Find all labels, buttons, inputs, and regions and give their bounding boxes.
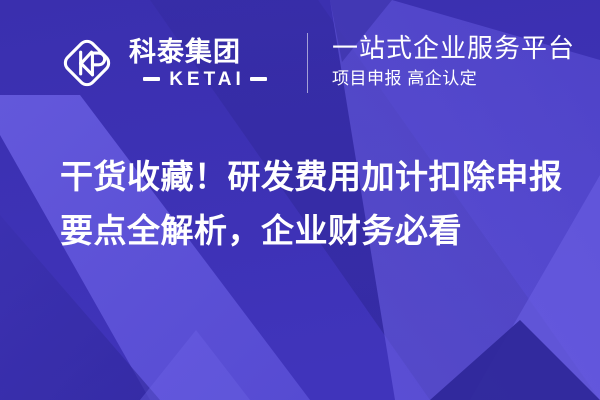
headline-line-2: 要点全解析，企业财务必看 xyxy=(60,204,560,258)
tagline-sub: 项目申报 高企认定 xyxy=(332,68,575,91)
logo-dash-left xyxy=(143,77,160,81)
brand-name-cn: 科泰集团 xyxy=(129,37,281,67)
ketai-diamond-kp-monogram-icon xyxy=(58,34,116,92)
promo-banner: 科泰集团 KETAI 一站式企业服务平台 项目申报 高企认定 干货收藏！研发费用… xyxy=(0,0,600,400)
brand-name-en: KETAI xyxy=(165,70,245,89)
brand-name-cn-text: 科泰集团 xyxy=(129,37,241,67)
banner-header: 科泰集团 KETAI 一站式企业服务平台 项目申报 高企认定 xyxy=(0,0,600,125)
headline-line-1: 干货收藏！研发费用加计扣除申报 xyxy=(60,150,560,204)
tagline-main: 一站式企业服务平台 xyxy=(332,34,575,64)
brand-name-en-row: KETAI xyxy=(129,70,281,89)
brand-wordmark: 科泰集团 KETAI xyxy=(129,37,281,89)
tagline-block: 一站式企业服务平台 项目申报 高企认定 xyxy=(332,34,575,91)
header-divider xyxy=(307,33,308,93)
logo-dash-right xyxy=(250,77,267,81)
headline-block: 干货收藏！研发费用加计扣除申报 要点全解析，企业财务必看 xyxy=(60,150,560,258)
brand-logo[interactable]: 科泰集团 KETAI xyxy=(58,34,281,92)
